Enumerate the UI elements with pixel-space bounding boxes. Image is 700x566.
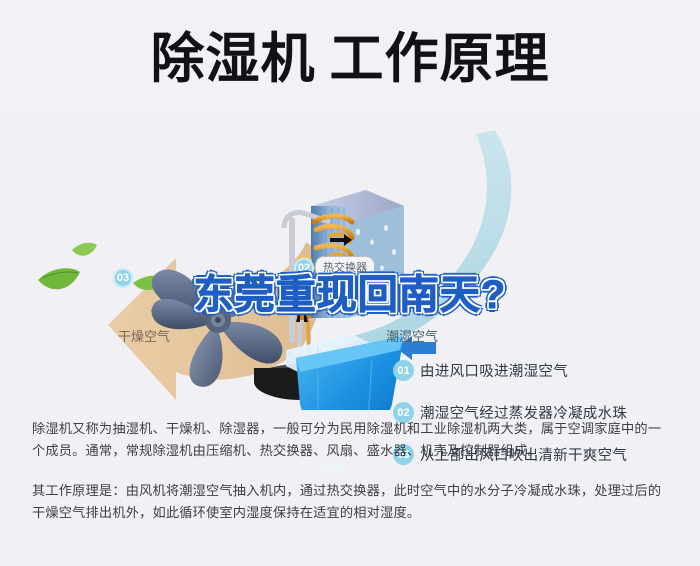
diagram-badge-03: 03 <box>113 268 133 288</box>
dry-air-label: 干燥空气 <box>118 326 170 345</box>
diagram-badge-02: 02 <box>294 258 314 278</box>
diagram-badge-01: 01 <box>377 292 397 312</box>
body-copy: 除湿机又称为抽湿机、干燥机、除湿器，一般可分为民用除湿机和工业除湿机两大类，属于… <box>32 418 672 524</box>
step-text-01: 由进风口吸进潮湿空气 <box>420 360 568 381</box>
copy-paragraph-2: 其工作原理是：由风机将潮湿空气抽入机内，通过热交换器，此时空气中的水分子冷凝成水… <box>32 480 672 524</box>
page-title: 除湿机工作原理 <box>151 32 550 86</box>
title-band: 除湿机工作原理 <box>0 0 700 118</box>
page-root: 除湿机工作原理 <box>0 0 700 566</box>
dehumidifier-diagram: 干燥空气 潮湿空气 水箱 03 02 01 热交换器 01 由进风口吸进潮湿空气… <box>0 110 700 410</box>
page-title-part-1: 除湿机 <box>151 29 316 89</box>
copy-paragraph-1: 除湿机又称为抽湿机、干燥机、除湿器，一般可分为民用除湿机和工业除湿机两大类，属于… <box>32 418 672 462</box>
page-title-part-2: 工作原理 <box>330 29 550 89</box>
step-item-01: 01 由进风口吸进潮湿空气 <box>393 360 693 381</box>
heat-exchanger-callout: 热交换器 <box>315 256 375 278</box>
humid-air-label: 潮湿空气 <box>386 326 438 345</box>
step-badge-01: 01 <box>393 360 414 381</box>
